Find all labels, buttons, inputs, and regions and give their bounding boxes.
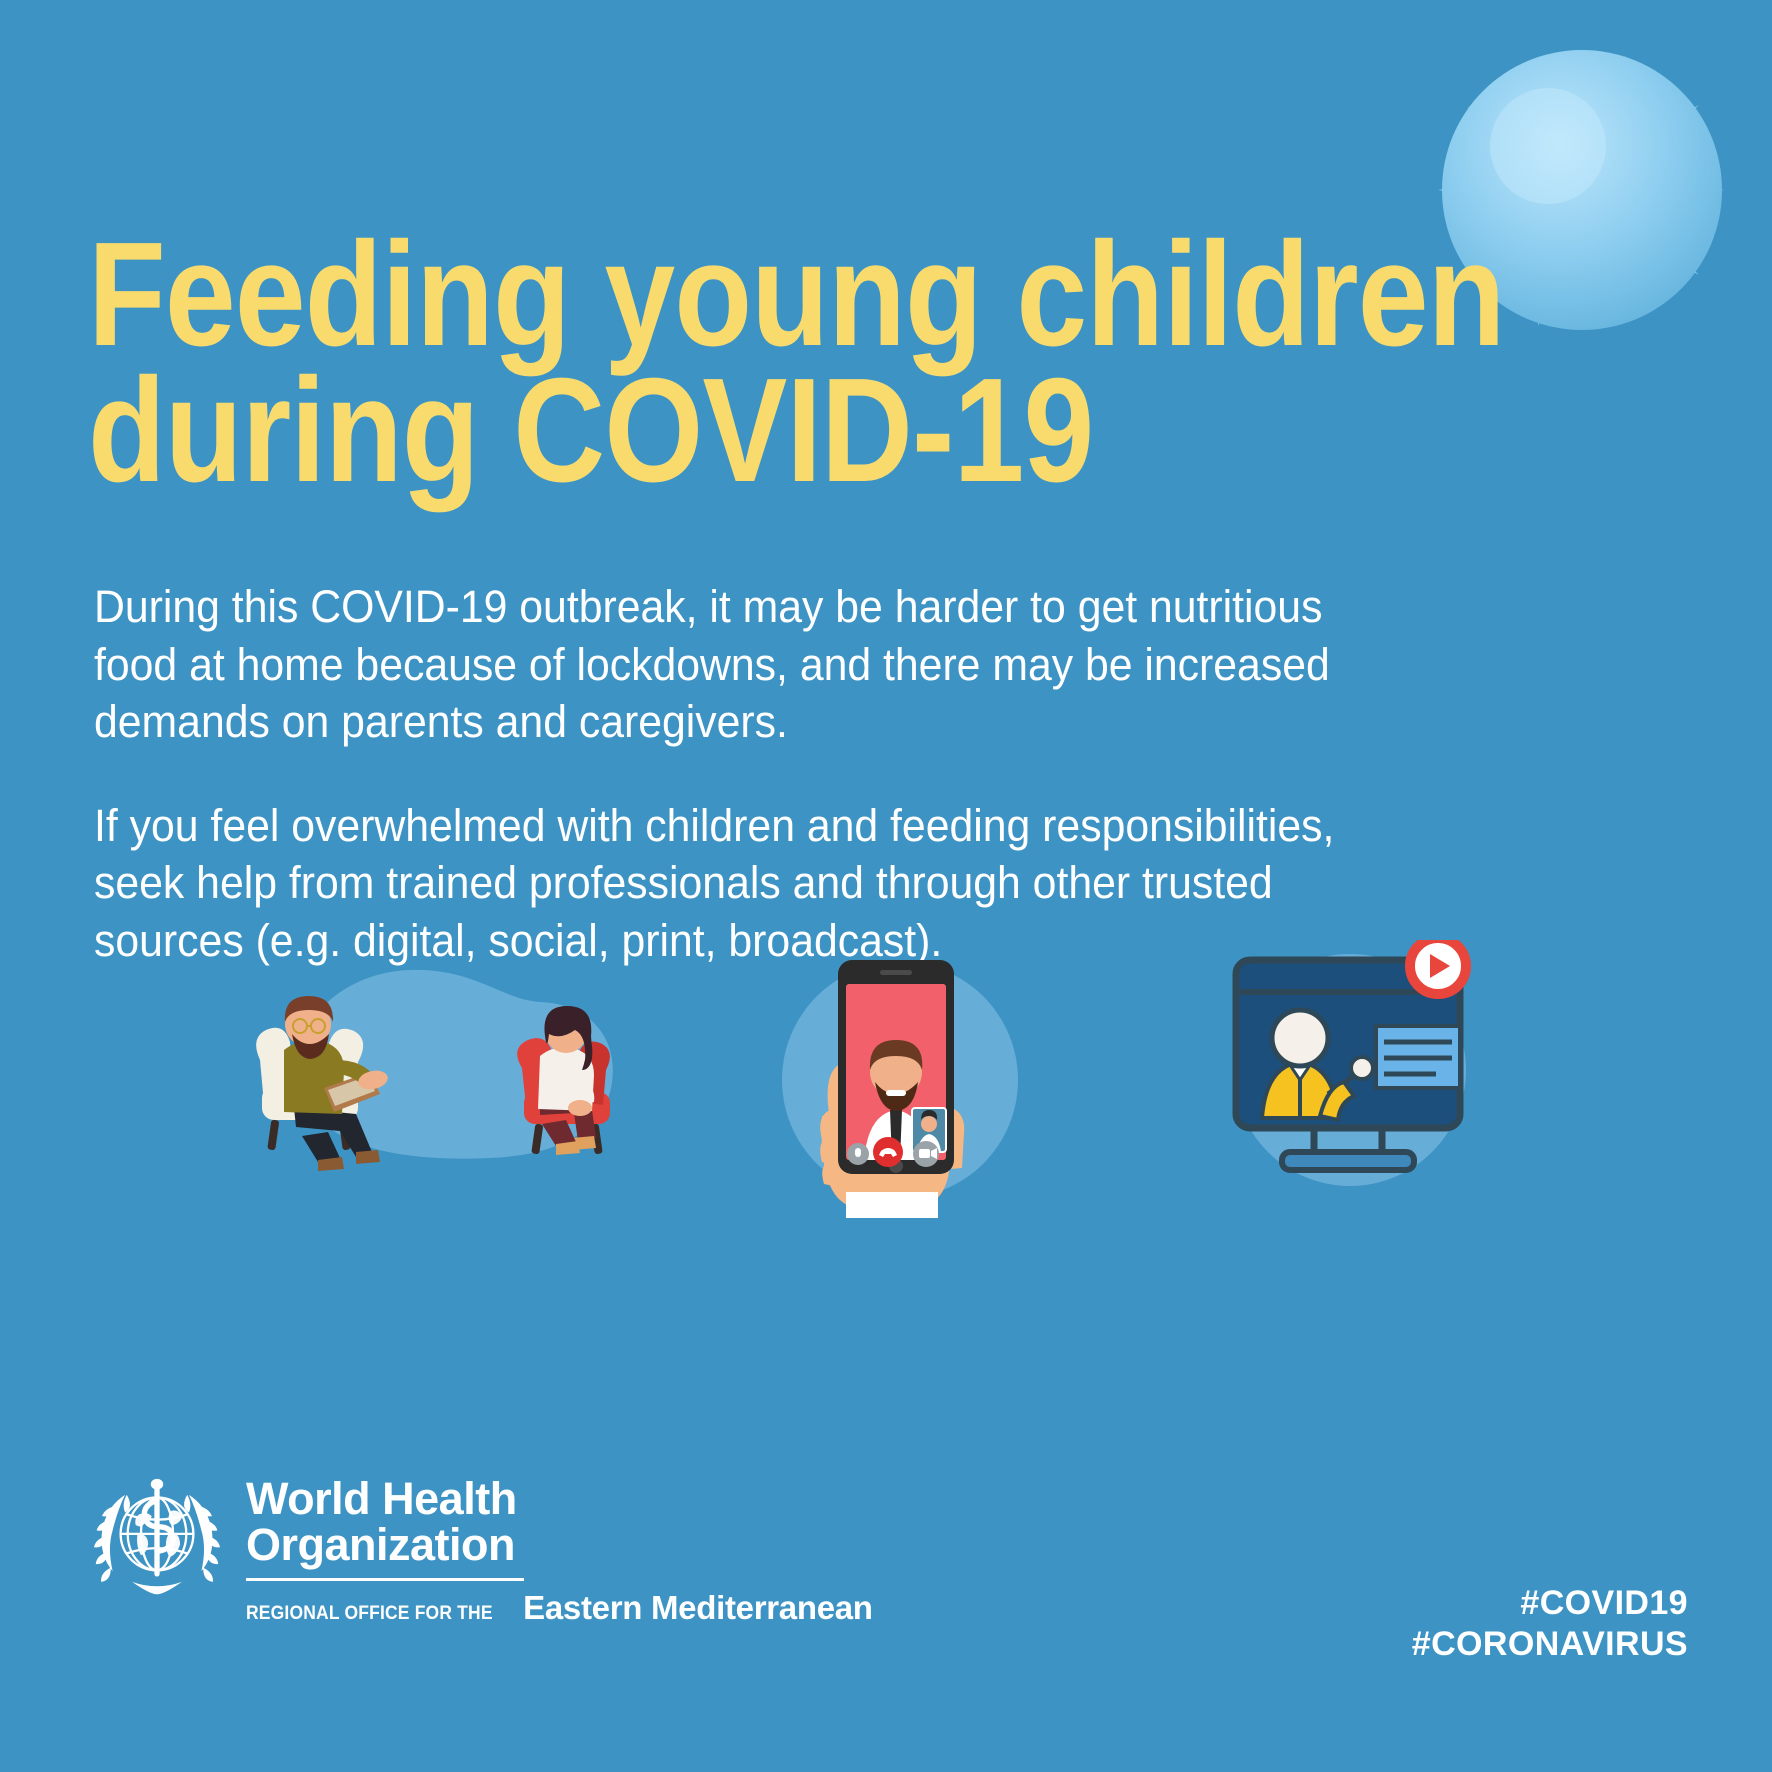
body-copy: During this COVID-19 outbreak, it may be… bbox=[94, 578, 1358, 970]
title-line-2: during COVID-19 bbox=[88, 363, 1292, 499]
who-emblem-icon bbox=[86, 1470, 228, 1612]
who-org-line-2: Organization bbox=[246, 1522, 873, 1568]
who-region-line: REGIONAL OFFICE FOR THE Eastern Mediterr… bbox=[246, 1589, 873, 1627]
who-divider bbox=[246, 1578, 524, 1581]
online-webinar-illustration bbox=[1200, 940, 1500, 1200]
body-paragraph-1: During this COVID-19 outbreak, it may be… bbox=[94, 578, 1358, 751]
video-call-phone-illustration bbox=[760, 930, 1040, 1220]
hashtag-block: #COVID19 #CORONAVIRUS bbox=[1412, 1583, 1688, 1666]
who-wordmark: World Health Organization REGIONAL OFFIC… bbox=[246, 1470, 873, 1627]
who-logo: World Health Organization REGIONAL OFFIC… bbox=[86, 1470, 873, 1627]
poster-canvas: Feeding young children during COVID-19 D… bbox=[0, 0, 1772, 1772]
illustration-band bbox=[0, 960, 1772, 1280]
page-title: Feeding young children during COVID-19 bbox=[88, 227, 1292, 499]
who-region-name: Eastern Mediterranean bbox=[523, 1589, 873, 1627]
title-line-1: Feeding young children bbox=[88, 227, 1292, 363]
counselling-session-illustration bbox=[240, 940, 640, 1200]
hashtag-covid19: #COVID19 bbox=[1412, 1583, 1688, 1624]
who-org-line-1: World Health bbox=[246, 1476, 873, 1522]
who-region-prefix: REGIONAL OFFICE FOR THE bbox=[246, 1603, 493, 1625]
hashtag-coronavirus: #CORONAVIRUS bbox=[1412, 1624, 1688, 1665]
